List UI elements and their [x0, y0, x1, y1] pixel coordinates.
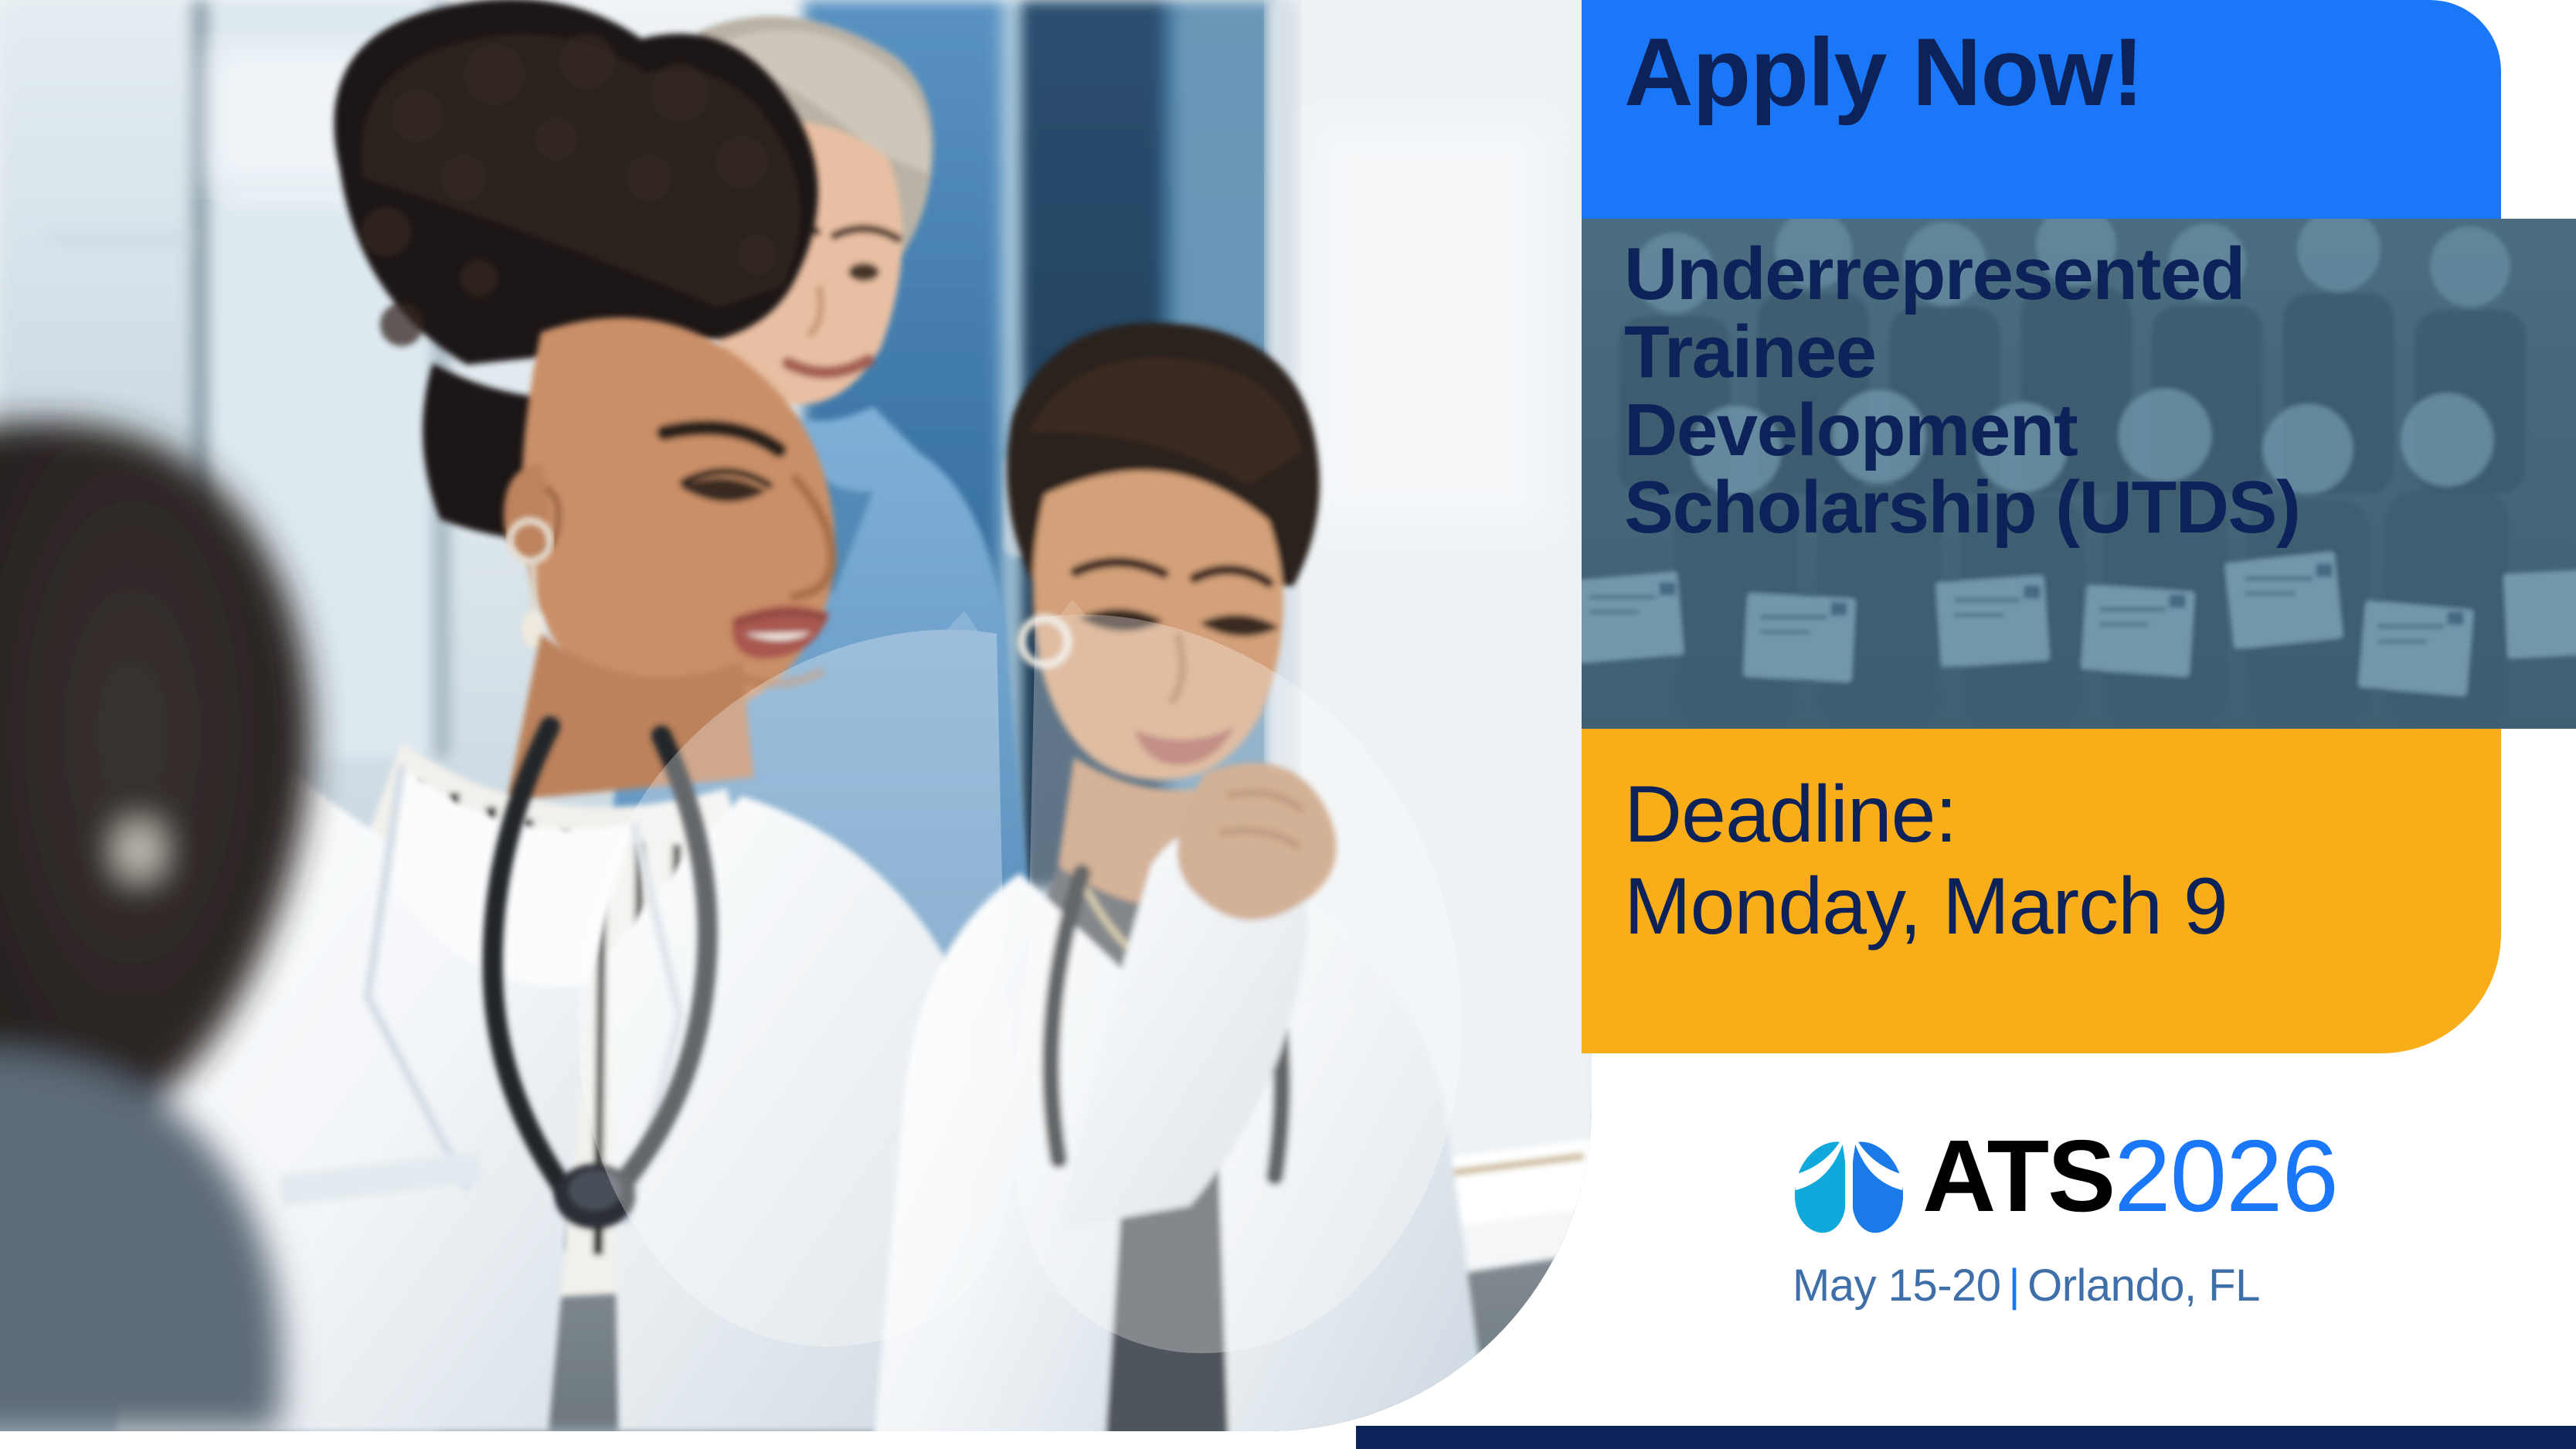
- hero-photo-illustration: [0, 0, 1592, 1431]
- deadline-label: Deadline:: [1624, 769, 2228, 861]
- deadline-text: Deadline: Monday, March 9: [1624, 769, 2228, 952]
- ats-acronym: ATS: [1922, 1119, 2114, 1233]
- title-line-2: Trainee: [1624, 314, 2562, 392]
- event-location: Orlando, FL: [2027, 1260, 2260, 1311]
- apply-now-label: Apply Now!: [1624, 25, 2143, 121]
- title-line-1: Underrepresented: [1624, 236, 2562, 314]
- promotional-banner: Group of diverse women medical professio…: [0, 0, 2576, 1449]
- event-dates: May 15-20: [1793, 1260, 2001, 1311]
- event-dates-location: May 15-20|Orlando, FL: [1793, 1260, 2260, 1311]
- ats-wordmark: ATS2026: [1922, 1125, 2338, 1227]
- scholarship-title: Underrepresented Trainee Development Sch…: [1624, 236, 2562, 547]
- deadline-date: Monday, March 9: [1624, 861, 2228, 953]
- ats-lungs-logo-mark: [1791, 1134, 1907, 1233]
- title-line-3: Development: [1624, 392, 2562, 470]
- hero-photo: Group of diverse women medical professio…: [0, 0, 1592, 1431]
- ats-2026-logo[interactable]: ATS2026 May 15-20|Orlando, FL: [1791, 1134, 2347, 1366]
- bottom-accent-bar: [1356, 1426, 2576, 1449]
- ats-year: 2026: [2114, 1119, 2338, 1233]
- scholarship-title-band: Group photo of past scholarship recipien…: [1582, 219, 2576, 729]
- separator: |: [2001, 1260, 2028, 1311]
- title-line-4: Scholarship (UTDS): [1624, 469, 2562, 547]
- deadline-band: Deadline: Monday, March 9: [1582, 729, 2501, 1053]
- apply-now-banner[interactable]: Apply Now!: [1582, 0, 2501, 219]
